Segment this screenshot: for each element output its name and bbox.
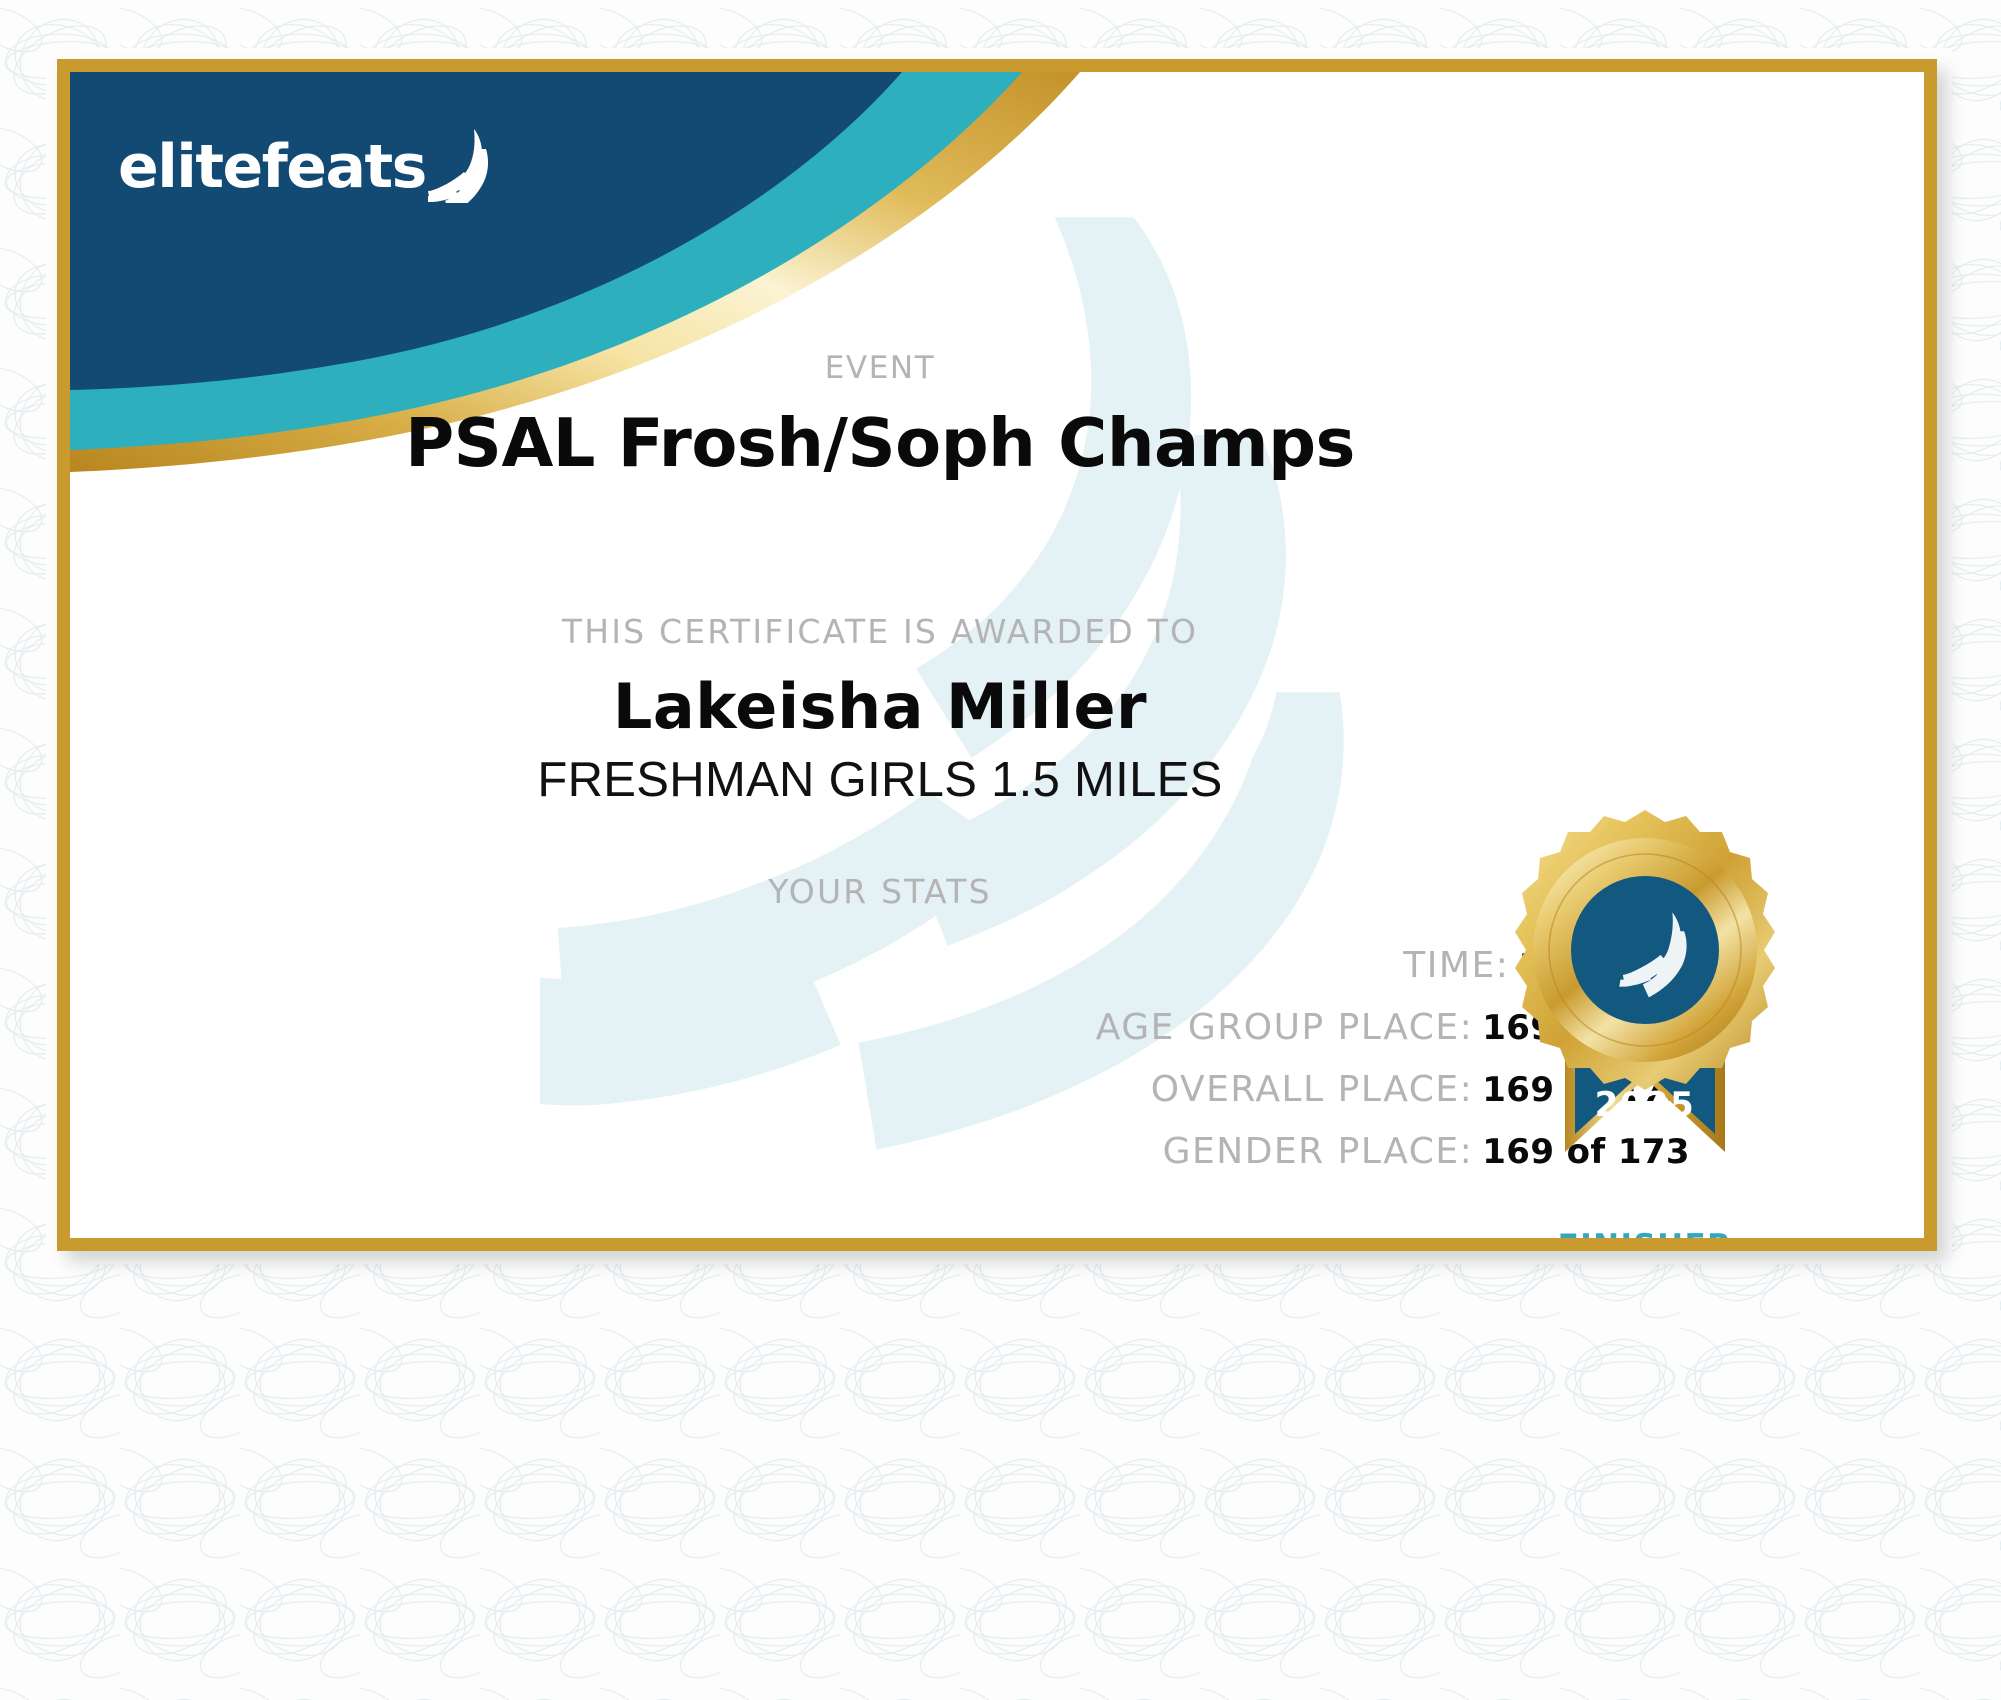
division-name: FRESHMAN GIRLS 1.5 MILES [70, 752, 1690, 808]
certificate-page: elitefeats EVENT PSAL Frosh/Soph Ch [0, 0, 2001, 1700]
stats-list: TIME:19:01.40 AGE GROUP PLACE:169 of 173… [70, 944, 1690, 1192]
event-label: EVENT [70, 350, 1690, 386]
stat-row: TIME:19:01.40 [70, 944, 1690, 988]
stat-key: GENDER PLACE: [1163, 1131, 1474, 1172]
awarded-to-label: THIS CERTIFICATE IS AWARDED TO [70, 612, 1690, 651]
event-title: PSAL Frosh/Soph Champs [70, 404, 1690, 482]
stat-key: OVERALL PLACE: [1151, 1069, 1473, 1110]
medal-badge-icon: 2025 [1495, 800, 1795, 1220]
seal-year: 2025 [1595, 1085, 1696, 1125]
certificate-gold-frame: elitefeats EVENT PSAL Frosh/Soph Ch [57, 59, 1937, 1251]
finisher-seal: 2025 FINISHER CERTIFICATE [1495, 800, 1795, 1238]
stat-row: GENDER PLACE:169 of 173 [70, 1130, 1690, 1174]
stat-row: AGE GROUP PLACE:169 of 173 [70, 1006, 1690, 1050]
seal-caption: FINISHER CERTIFICATE [1495, 1229, 1795, 1238]
your-stats-label: YOUR STATS [70, 872, 1690, 911]
stat-key: TIME: [1403, 945, 1509, 986]
recipient-name: Lakeisha Miller [70, 670, 1690, 743]
stat-key: AGE GROUP PLACE: [1096, 1007, 1473, 1048]
seal-caption-line1: FINISHER [1495, 1229, 1795, 1238]
stat-row: OVERALL PLACE:169 of 173 [70, 1068, 1690, 1112]
